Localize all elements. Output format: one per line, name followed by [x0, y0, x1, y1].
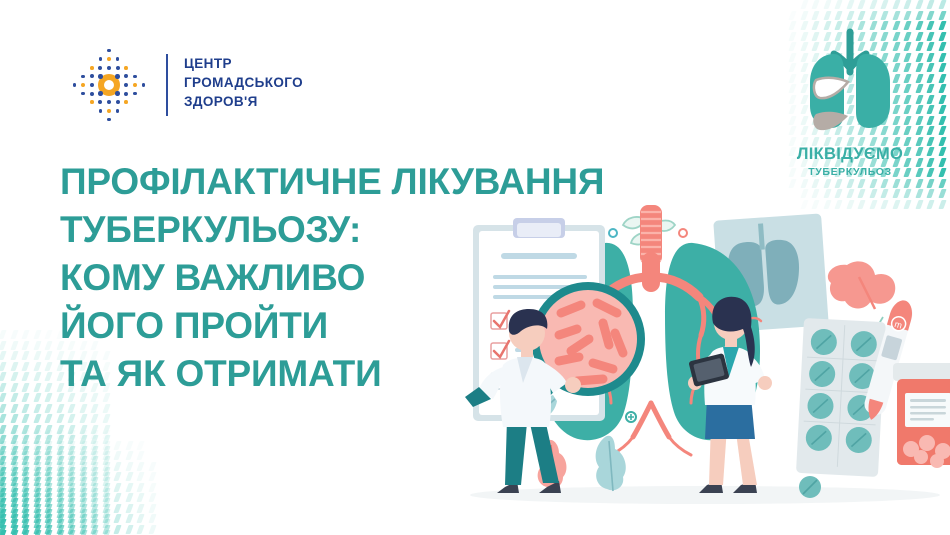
pattern-slash [35, 341, 40, 350]
pattern-slash [104, 467, 109, 476]
pattern-slash [12, 493, 17, 502]
bottle-label [905, 393, 950, 427]
pattern-slash [81, 451, 86, 460]
pattern-slash [58, 462, 63, 471]
pattern-slash [81, 414, 86, 423]
pattern-slash [35, 488, 40, 497]
pattern-slash [35, 414, 40, 423]
likviduemo-tuberkuloz-logo: ЛІКВІДУЄМО ТУБЕРКУЛЬОЗ [780, 28, 920, 188]
logo-dot [90, 92, 94, 96]
pattern-slash [928, 105, 933, 114]
logo-dot [90, 74, 94, 78]
pattern-slash [46, 430, 51, 439]
pattern-slash [46, 425, 51, 434]
pattern-slash [802, 0, 807, 9]
pattern-slash [928, 116, 933, 125]
pattern-slash [92, 493, 97, 502]
pattern-slash [69, 530, 74, 535]
pattern-slash [92, 430, 97, 439]
pattern-slash [23, 477, 28, 486]
pattern-slash [35, 383, 40, 392]
logo-divider [166, 54, 168, 116]
pattern-slash [12, 441, 17, 450]
pattern-slash [23, 372, 28, 381]
pattern-slash [905, 0, 910, 9]
pattern-slash [940, 74, 945, 83]
pattern-slash [12, 477, 17, 486]
pattern-slash [813, 0, 818, 9]
pattern-slash [836, 11, 841, 20]
pattern-slash [58, 404, 63, 413]
pattern-slash [69, 519, 74, 528]
logo-dot [116, 109, 120, 113]
pattern-slash [940, 137, 945, 146]
pattern-slash [23, 446, 28, 455]
pattern-slash [35, 430, 40, 439]
pattern-slash [813, 189, 818, 198]
pattern-slash [104, 446, 109, 455]
pattern-slash [104, 430, 109, 439]
pattern-slash [46, 372, 51, 381]
pattern-slash [104, 441, 109, 450]
pattern-slash [138, 493, 143, 502]
pattern-slash [802, 189, 807, 198]
pattern-slash [928, 179, 933, 188]
pattern-slash [12, 488, 17, 497]
pattern-slash [46, 519, 51, 528]
pattern-slash [894, 189, 899, 198]
pattern-slash [35, 519, 40, 528]
pattern-slash [127, 472, 132, 481]
logo-dot [81, 75, 85, 79]
pattern-slash [23, 519, 28, 528]
pattern-slash [928, 21, 933, 30]
pattern-slash [104, 530, 109, 535]
logo-dot [133, 83, 137, 87]
logo-dot [90, 66, 94, 70]
logo-dot [116, 100, 120, 104]
pattern-slash [35, 477, 40, 486]
pattern-slash [35, 456, 40, 465]
pattern-slash [848, 11, 853, 20]
pattern-slash [35, 509, 40, 518]
pattern-slash [150, 525, 155, 534]
pattern-slash [138, 451, 143, 460]
pattern-slash [35, 446, 40, 455]
pattern-slash [69, 525, 74, 534]
pattern-slash [81, 477, 86, 486]
pattern-slash [12, 509, 17, 518]
pattern-slash [115, 504, 120, 513]
pattern-slash [104, 472, 109, 481]
pattern-slash [104, 435, 109, 444]
pattern-slash [23, 472, 28, 481]
pattern-slash [69, 414, 74, 423]
pattern-slash [92, 472, 97, 481]
pattern-slash [58, 493, 63, 502]
pattern-slash [92, 456, 97, 465]
logo-dot [124, 83, 129, 88]
pattern-slash [35, 504, 40, 513]
pattern-slash [58, 467, 63, 476]
pattern-slash [58, 430, 63, 439]
pattern-slash [12, 467, 17, 476]
male-doctor-trousers [505, 419, 527, 485]
pattern-slash [81, 472, 86, 481]
pattern-slash [46, 477, 51, 486]
pattern-slash [81, 425, 86, 434]
pattern-slash [0, 472, 5, 481]
pattern-slash [46, 435, 51, 444]
pattern-slash [81, 430, 86, 439]
pattern-slash [928, 189, 933, 198]
pattern-slash [92, 451, 97, 460]
cz-line-3: ЗДОРОВ'Я [184, 92, 303, 111]
pattern-slash [92, 467, 97, 476]
pattern-slash [127, 451, 132, 460]
pattern-slash [58, 472, 63, 481]
pattern-slash [825, 0, 830, 9]
logo-dot [90, 100, 94, 104]
pattern-slash [836, 0, 841, 9]
pattern-slash [69, 430, 74, 439]
pattern-slash [12, 414, 17, 423]
pattern-slash [940, 32, 945, 41]
pattern-slash [35, 435, 40, 444]
pattern-slash [0, 383, 5, 392]
logo-dot [124, 100, 128, 104]
pattern-slash [81, 441, 86, 450]
coral-organ-decor [828, 261, 895, 309]
pattern-slash [0, 441, 5, 450]
pattern-slash [917, 189, 922, 198]
pattern-slash [12, 504, 17, 513]
pattern-slash [0, 430, 5, 439]
pattern-slash [81, 404, 86, 413]
pattern-slash [0, 404, 5, 413]
cz-line-2: ГРОМАДСЬКОГО [184, 73, 303, 92]
pattern-slash [92, 404, 97, 413]
pattern-slash [92, 414, 97, 423]
pattern-slash [894, 0, 899, 9]
pattern-slash [12, 514, 17, 523]
pattern-slash [23, 351, 28, 360]
brand-line-2: ТУБЕРКУЛЬОЗ [774, 166, 926, 178]
logo-dot [98, 91, 103, 96]
pattern-slash [46, 504, 51, 513]
pattern-slash [23, 488, 28, 497]
pattern-slash [23, 362, 28, 371]
pattern-slash [150, 472, 155, 481]
pattern-slash [150, 462, 155, 471]
logo-dot [115, 91, 120, 96]
pattern-slash [104, 483, 109, 492]
pattern-slash [58, 441, 63, 450]
pattern-slash [46, 509, 51, 518]
pattern-slash [58, 483, 63, 492]
pattern-slash [12, 446, 17, 455]
pattern-slash [58, 488, 63, 497]
pattern-slash [69, 451, 74, 460]
pattern-slash [12, 525, 17, 534]
pattern-slash [928, 42, 933, 51]
slash-pattern-bottom-left [0, 430, 220, 535]
pattern-slash [81, 509, 86, 518]
pattern-slash [46, 488, 51, 497]
pattern-slash [35, 525, 40, 534]
pattern-slash [928, 53, 933, 62]
pattern-slash [115, 525, 120, 534]
concentric-dot-diamond-icon [68, 44, 150, 126]
pattern-slash [115, 451, 120, 460]
pattern-slash [69, 488, 74, 497]
pattern-slash [0, 330, 5, 339]
pattern-slash [0, 451, 5, 460]
pattern-slash [12, 430, 17, 439]
pattern-slash [46, 514, 51, 523]
logo-dot [90, 83, 95, 88]
pattern-slash [0, 504, 5, 513]
headline-line-5: ТА ЯК ОТРИМАТИ [60, 350, 604, 398]
pattern-slash [92, 425, 97, 434]
logo-dot [107, 57, 111, 61]
pattern-slash [35, 330, 40, 339]
pattern-slash [127, 525, 132, 534]
pattern-slash [104, 456, 109, 465]
pattern-slash [92, 446, 97, 455]
logo-dot [107, 109, 111, 113]
pattern-slash [127, 504, 132, 513]
pattern-slash [12, 462, 17, 471]
pattern-slash [81, 519, 86, 528]
pattern-slash [928, 126, 933, 135]
pattern-slash [0, 456, 5, 465]
pattern-slash [92, 514, 97, 523]
pattern-slash [35, 372, 40, 381]
pattern-slash [115, 441, 120, 450]
pattern-slash [46, 383, 51, 392]
pattern-slash [882, 11, 887, 20]
pattern-slash [0, 493, 5, 502]
pattern-slash [81, 488, 86, 497]
pattern-slash [104, 477, 109, 486]
pattern-slash [23, 456, 28, 465]
pattern-slash [0, 477, 5, 486]
pattern-slash [81, 498, 86, 507]
pattern-slash [940, 105, 945, 114]
pattern-slash [813, 11, 818, 20]
pattern-slash [138, 483, 143, 492]
pattern-slash [859, 189, 864, 198]
pattern-slash [46, 393, 51, 402]
pattern-slash [12, 425, 17, 434]
pattern-slash [46, 341, 51, 350]
pattern-slash [23, 441, 28, 450]
pattern-slash [35, 351, 40, 360]
pattern-slash [81, 514, 86, 523]
pattern-slash [0, 393, 5, 402]
pattern-slash [92, 525, 97, 534]
pattern-slash [46, 462, 51, 471]
pattern-slash [12, 472, 17, 481]
logo-dot [99, 57, 103, 61]
pattern-slash [35, 514, 40, 523]
pattern-slash [81, 446, 86, 455]
pattern-slash [859, 0, 864, 9]
pattern-slash [69, 483, 74, 492]
pattern-slash [23, 330, 28, 339]
pattern-slash [940, 53, 945, 62]
pattern-slash [104, 404, 109, 413]
logo-dot [98, 100, 102, 104]
brand-line-1: ЛІКВІДУЄМО [774, 145, 926, 164]
pattern-slash [23, 414, 28, 423]
headline-line-4: ЙОГО ПРОЙТИ [60, 302, 604, 350]
pattern-slash [0, 519, 5, 528]
pattern-slash [127, 441, 132, 450]
pattern-slash [81, 493, 86, 502]
logo-dot [142, 83, 146, 87]
pattern-slash [0, 446, 5, 455]
pattern-slash [46, 446, 51, 455]
pattern-slash [871, 11, 876, 20]
pattern-slash [0, 362, 5, 371]
pattern-slash [848, 0, 853, 9]
headline-line-2: ТУБЕРКУЛЬОЗУ: [60, 206, 604, 254]
pattern-slash [138, 462, 143, 471]
pattern-slash [940, 158, 945, 167]
pattern-slash [92, 462, 97, 471]
pattern-slash [81, 530, 86, 535]
pattern-slash [12, 530, 17, 535]
pattern-slash [127, 493, 132, 502]
headline-line-3: КОМУ ВАЖЛИВО [60, 254, 604, 302]
pattern-slash [23, 393, 28, 402]
pattern-slash [917, 11, 922, 20]
pattern-slash [104, 425, 109, 434]
pattern-slash [58, 435, 63, 444]
logo-dot [116, 66, 120, 70]
pattern-slash [138, 514, 143, 523]
pattern-slash [104, 451, 109, 460]
headline-line-1: ПРОФІЛАКТИЧНЕ ЛІКУВАННЯ [60, 158, 604, 206]
pattern-slash [58, 477, 63, 486]
pattern-slash [58, 456, 63, 465]
pattern-slash [940, 84, 945, 93]
pattern-slash [69, 435, 74, 444]
logo-dot [107, 49, 111, 53]
logo-dot [107, 100, 112, 105]
pattern-slash [0, 467, 5, 476]
pattern-slash [35, 472, 40, 481]
pattern-slash [127, 462, 132, 471]
pattern-slash [127, 514, 132, 523]
medicine-bottle [893, 363, 950, 468]
pattern-slash [138, 525, 143, 534]
logo-dot [124, 74, 128, 78]
pattern-slash [940, 147, 945, 156]
pattern-slash [12, 351, 17, 360]
pattern-slash [81, 456, 86, 465]
pattern-slash [940, 42, 945, 51]
logo-dot [81, 83, 85, 87]
pattern-slash [92, 435, 97, 444]
pattern-slash [928, 158, 933, 167]
pattern-slash [23, 509, 28, 518]
pattern-slash [104, 488, 109, 497]
logo-dot [124, 66, 128, 70]
pattern-slash [0, 530, 5, 535]
pattern-slash [150, 493, 155, 502]
pattern-slash [23, 341, 28, 350]
pattern-slash [58, 451, 63, 460]
pattern-slash [92, 477, 97, 486]
pattern-slash [46, 467, 51, 476]
pattern-slash [58, 504, 63, 513]
poster-root: ЦЕНТР ГРОМАДСЬКОГО ЗДОРОВ'Я ЛІКВІДУЄМО Т… [0, 0, 950, 535]
pattern-slash [0, 435, 5, 444]
pattern-slash [69, 404, 74, 413]
pattern-slash [12, 435, 17, 444]
pattern-slash [104, 525, 109, 534]
pattern-slash [825, 189, 830, 198]
pattern-slash [23, 451, 28, 460]
pattern-slash [46, 330, 51, 339]
pattern-slash [69, 462, 74, 471]
pattern-slash [138, 504, 143, 513]
pattern-slash [81, 483, 86, 492]
pattern-slash [104, 509, 109, 518]
logo-dot [115, 74, 120, 79]
pattern-slash [882, 189, 887, 198]
pattern-slash [23, 435, 28, 444]
logo-dot [98, 66, 102, 70]
pattern-slash [69, 456, 74, 465]
pattern-slash [23, 483, 28, 492]
pattern-slash [12, 383, 17, 392]
pattern-slash [115, 514, 120, 523]
pattern-slash [802, 11, 807, 20]
pattern-slash [0, 372, 5, 381]
pattern-slash [115, 493, 120, 502]
pattern-slash [882, 0, 887, 9]
pattern-slash [940, 168, 945, 177]
pattern-slash [928, 168, 933, 177]
pattern-slash [69, 514, 74, 523]
pattern-slash [23, 493, 28, 502]
pattern-slash [23, 467, 28, 476]
pattern-slash [104, 498, 109, 507]
pattern-slash [35, 493, 40, 502]
logo-dot [116, 57, 120, 61]
pattern-slash [23, 504, 28, 513]
pattern-slash [23, 404, 28, 413]
pattern-slash [58, 425, 63, 434]
pattern-slash [12, 451, 17, 460]
page-title: ПРОФІЛАКТИЧНЕ ЛІКУВАННЯ ТУБЕРКУЛЬОЗУ: КО… [60, 158, 604, 398]
pattern-slash [92, 483, 97, 492]
pattern-slash [905, 11, 910, 20]
centre-public-health-wordmark: ЦЕНТР ГРОМАДСЬКОГО ЗДОРОВ'Я [184, 54, 303, 111]
pattern-slash [92, 441, 97, 450]
pattern-slash [92, 498, 97, 507]
pattern-slash [58, 509, 63, 518]
pattern-slash [138, 441, 143, 450]
pattern-slash [92, 488, 97, 497]
pattern-slash [0, 351, 5, 360]
pattern-slash [58, 530, 63, 535]
pattern-slash [0, 414, 5, 423]
